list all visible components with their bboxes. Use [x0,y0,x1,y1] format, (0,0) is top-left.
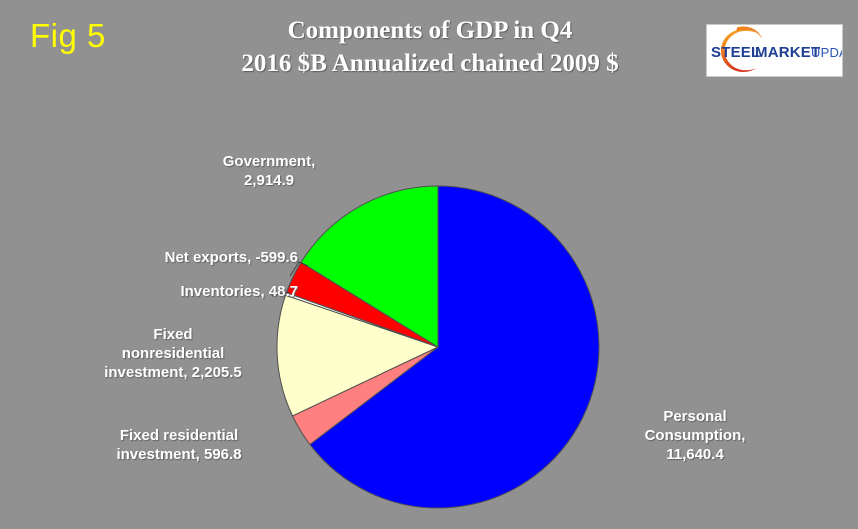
slide-canvas: Fig 5 Components of GDP in Q4 2016 $B An… [0,0,858,529]
pie-label-fixed-nonres-line-3: investment, 2,205.5 [68,363,278,382]
pie-slices [277,186,599,508]
pie-slice-inventories[interactable] [286,293,438,347]
pie-label-inventories-line-1: Inventories, 48.7 [78,282,298,301]
chart-title: Components of GDP in Q4 2016 $B Annualiz… [160,14,700,80]
pie-label-personal-line-1: Personal [600,407,790,426]
pie-label-fixed-res-line-1: Fixed residential [68,426,290,445]
pie-label-government: Government, 2,914.9 [178,152,360,190]
pie-label-fixed-nonresidential-investment: Fixed nonresidential investment, 2,205.5 [68,325,278,383]
pie-slice-fixed-residential-investment[interactable] [292,347,438,444]
pie-label-personal-line-2: Consumption, [600,426,790,445]
pie-label-net-exports: Net exports, -599.6 [78,248,298,267]
pie-label-government-line-2: 2,914.9 [178,171,360,190]
pie-slice-net-exports[interactable] [286,262,438,347]
figure-tag: Fig 5 [30,18,106,54]
pie-label-inventories: Inventories, 48.7 [78,282,298,301]
logo-word-update: UPDATE [811,45,842,60]
pie-label-personal-consumption: Personal Consumption, 11,640.4 [600,407,790,465]
pie-label-government-line-1: Government, [178,152,360,171]
pie-slice-government[interactable] [301,186,438,347]
pie-label-fixed-res-line-2: investment, 596.8 [68,445,290,464]
logo-artwork: STEEL MARKET UPDATE [707,25,842,76]
pie-slice-personal-consumption[interactable] [310,186,599,508]
pie-label-fixed-residential-investment: Fixed residential investment, 596.8 [68,426,290,464]
logo-word-steel: STEEL [711,44,760,61]
chart-title-line-1: Components of GDP in Q4 [160,14,700,47]
pie-label-fixed-nonres-line-1: Fixed [68,325,278,344]
pie-slice-fixed-nonresidential-investment[interactable] [277,295,438,416]
pie-label-net-exports-line-1: Net exports, -599.6 [78,248,298,267]
steel-market-update-logo: STEEL MARKET UPDATE [706,24,843,77]
pie-label-personal-line-3: 11,640.4 [600,445,790,464]
pie-label-fixed-nonres-line-2: nonresidential [68,344,278,363]
chart-title-line-2: 2016 $B Annualized chained 2009 $ [160,47,700,80]
